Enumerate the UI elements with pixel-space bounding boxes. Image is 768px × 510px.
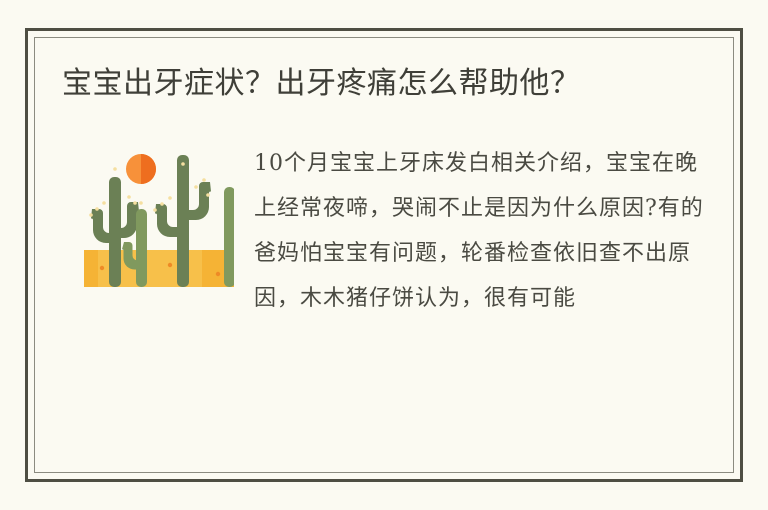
article-body-row: 10个月宝宝上牙床发白相关介绍，宝宝在晚上经常夜啼，哭闹不止是因为什么原因?有的…	[62, 141, 706, 321]
desert-cactus-illustration	[84, 147, 234, 297]
cactus-far-right	[224, 187, 234, 287]
card-content: 宝宝出牙症状？出牙疼痛怎么帮助他？	[34, 37, 734, 473]
page-title: 宝宝出牙症状？出牙疼痛怎么帮助他？	[62, 61, 662, 106]
sun-icon	[126, 154, 156, 184]
sand-ground	[84, 250, 234, 287]
article-paragraph: 10个月宝宝上牙床发白相关介绍，宝宝在晚上经常夜啼，哭闹不止是因为什么原因?有的…	[254, 141, 706, 321]
article-card-page: 宝宝出牙症状？出牙疼痛怎么帮助他？	[0, 0, 768, 510]
